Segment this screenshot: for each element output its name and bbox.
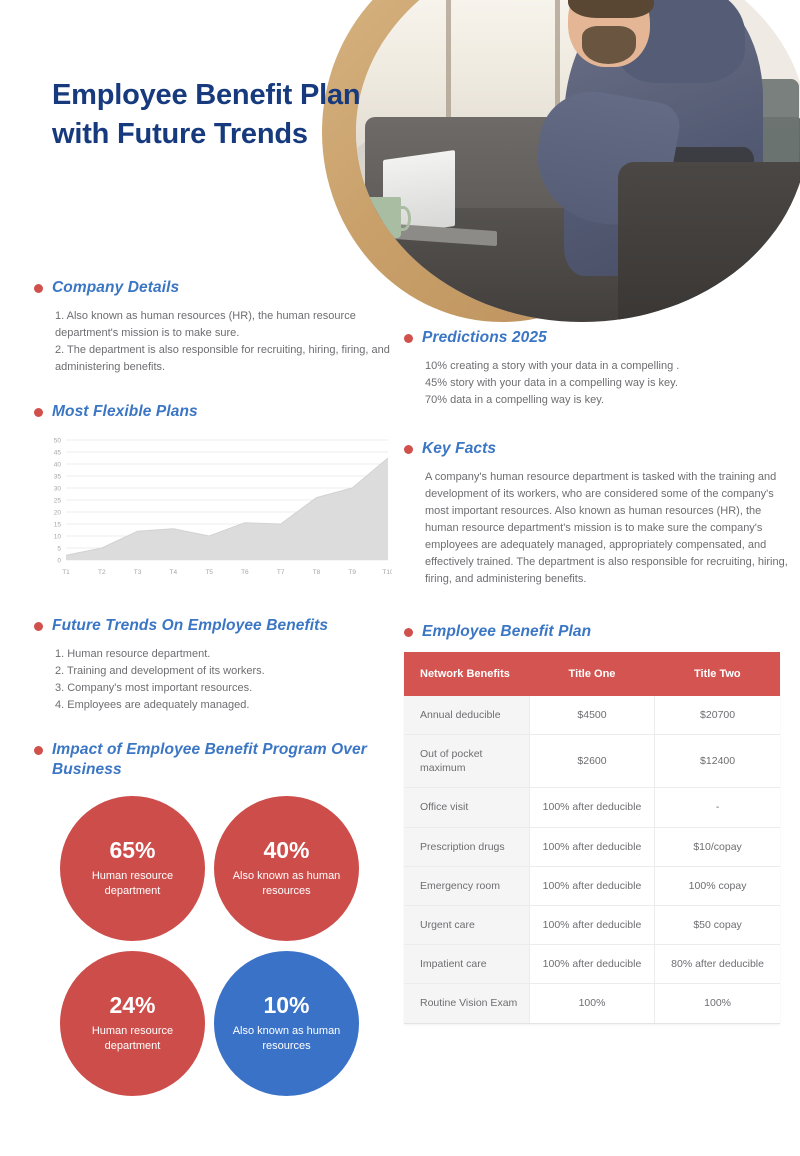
svg-text:50: 50 — [54, 437, 62, 444]
section-benefit-plan: Employee Benefit Plan Network Benefits T… — [404, 622, 790, 1023]
section-most-flexible-plans: Most Flexible Plans 05101520253035404550… — [34, 402, 406, 582]
cell-value: $2600 — [529, 735, 654, 788]
table-row: Emergency room100% after deducible100% c… — [404, 866, 780, 905]
stat-circle: 24% Human resource department — [60, 951, 205, 1096]
table-row: Routine Vision Exam100%100% — [404, 984, 780, 1023]
cell-value: $10/copay — [655, 827, 780, 866]
list-item: 2. The department is also responsible fo… — [55, 342, 406, 376]
column-header-title-two: Title Two — [655, 652, 780, 696]
cell-value: 100% — [529, 984, 654, 1023]
list-item: 4. Employees are adequately managed. — [55, 697, 406, 714]
section-header: Employee Benefit Plan — [404, 622, 790, 642]
stat-percent: 40% — [263, 838, 309, 863]
cell-value: 100% after deducible — [529, 866, 654, 905]
stat-circle-group: 65% Human resource department 40% Also k… — [60, 796, 390, 1096]
bullet-dot-icon — [404, 334, 413, 343]
company-details-body: 1. Also known as human resources (HR), t… — [55, 308, 406, 376]
section-header: Future Trends On Employee Benefits — [34, 616, 406, 636]
list-item: 1. Also known as human resources (HR), t… — [55, 308, 406, 342]
list-item: 3. Company's most important resources. — [55, 680, 406, 697]
svg-text:T3: T3 — [134, 569, 142, 576]
stat-circle: 10% Also known as human resources — [214, 951, 359, 1096]
bullet-dot-icon — [34, 622, 43, 631]
stat-circle: 40% Also known as human resources — [214, 796, 359, 941]
key-facts-body: A company's human resource department is… — [425, 469, 790, 588]
bullet-dot-icon — [404, 628, 413, 637]
cell-value: 100% — [655, 984, 780, 1023]
svg-text:T5: T5 — [205, 569, 213, 576]
section-company-details: Company Details 1. Also known as human r… — [34, 278, 406, 376]
cell-value: 100% after deducible — [529, 945, 654, 984]
svg-text:40: 40 — [54, 461, 62, 468]
section-header: Impact of Employee Benefit Program Over … — [34, 740, 406, 780]
table-row: Prescription drugs100% after deducible$1… — [404, 827, 780, 866]
future-trends-body: 1. Human resource department. 2. Trainin… — [55, 646, 406, 714]
list-item: 1. Human resource department. — [55, 646, 406, 663]
cell-benefit-name: Annual deducible — [404, 696, 529, 735]
page-title: Employee Benefit Plan with Future Trends — [52, 76, 362, 155]
list-item: 10% creating a story with your data in a… — [425, 358, 790, 375]
cell-benefit-name: Impatient care — [404, 945, 529, 984]
hero-photo — [356, 0, 800, 322]
section-title: Key Facts — [422, 439, 496, 459]
section-predictions: Predictions 2025 10% creating a story wi… — [404, 328, 790, 409]
table-row: Urgent care100% after deducible$50 copay — [404, 905, 780, 944]
table-row: Impatient care100% after deducible80% af… — [404, 945, 780, 984]
table-header: Network Benefits Title One Title Two — [404, 652, 780, 696]
section-header: Predictions 2025 — [404, 328, 790, 348]
svg-text:T7: T7 — [277, 569, 285, 576]
svg-text:T2: T2 — [98, 569, 106, 576]
table-header-row: Network Benefits Title One Title Two — [404, 652, 780, 696]
svg-text:45: 45 — [54, 449, 62, 456]
cell-benefit-name: Routine Vision Exam — [404, 984, 529, 1023]
stat-label: Also known as human resources — [214, 1024, 359, 1054]
table-body: Annual deducible$4500$20700Out of pocket… — [404, 696, 780, 1023]
table-row: Office visit100% after deducible- — [404, 788, 780, 827]
chart-area-fill — [66, 458, 388, 560]
person-hair — [568, 0, 654, 18]
table-row: Annual deducible$4500$20700 — [404, 696, 780, 735]
cell-benefit-name: Emergency room — [404, 866, 529, 905]
svg-text:T1: T1 — [62, 569, 70, 576]
bullet-dot-icon — [34, 284, 43, 293]
couch-armrest — [618, 162, 800, 322]
list-item: 70% data in a compelling way is key. — [425, 392, 790, 409]
stat-label: Also known as human resources — [214, 869, 359, 899]
list-item: 2. Training and development of its worke… — [55, 663, 406, 680]
section-title: Predictions 2025 — [422, 328, 547, 348]
stat-label: Human resource department — [60, 1024, 205, 1054]
svg-text:25: 25 — [54, 497, 62, 504]
stat-percent: 65% — [109, 838, 155, 863]
coffee-mug — [365, 197, 401, 239]
list-item: 45% story with your data in a compelling… — [425, 375, 790, 392]
section-header: Most Flexible Plans — [34, 402, 406, 422]
cell-value: $50 copay — [655, 905, 780, 944]
svg-text:5: 5 — [57, 545, 61, 552]
section-title: Company Details — [52, 278, 179, 298]
area-chart: 05101520253035404550 T1T2T3T4T5T6T7T8T9T… — [40, 432, 392, 582]
cell-benefit-name: Out of pocket maximum — [404, 735, 529, 788]
cell-value: $4500 — [529, 696, 654, 735]
cell-benefit-name: Urgent care — [404, 905, 529, 944]
predictions-body: 10% creating a story with your data in a… — [425, 358, 790, 409]
column-header-title-one: Title One — [529, 652, 654, 696]
table-row: Out of pocket maximum$2600$12400 — [404, 735, 780, 788]
area-chart-svg: 05101520253035404550 T1T2T3T4T5T6T7T8T9T… — [40, 432, 392, 582]
stat-label: Human resource department — [60, 869, 205, 899]
cell-value: $12400 — [655, 735, 780, 788]
cell-value: - — [655, 788, 780, 827]
svg-text:T6: T6 — [241, 569, 249, 576]
chart-x-axis-labels: T1T2T3T4T5T6T7T8T9T10 — [62, 569, 392, 576]
person-beard — [582, 26, 636, 64]
stat-percent: 24% — [109, 993, 155, 1018]
cell-value: 100% after deducible — [529, 827, 654, 866]
section-header: Key Facts — [404, 439, 790, 459]
stat-circle: 65% Human resource department — [60, 796, 205, 941]
cell-value: 100% copay — [655, 866, 780, 905]
left-column: Company Details 1. Also known as human r… — [34, 278, 406, 1100]
cell-value: 80% after deducible — [655, 945, 780, 984]
chart-y-axis-labels: 05101520253035404550 — [54, 437, 62, 564]
cell-benefit-name: Office visit — [404, 788, 529, 827]
stat-percent: 10% — [263, 993, 309, 1018]
section-header: Company Details — [34, 278, 406, 298]
svg-text:35: 35 — [54, 473, 62, 480]
svg-text:30: 30 — [54, 485, 62, 492]
svg-text:0: 0 — [57, 557, 61, 564]
cell-value: 100% after deducible — [529, 905, 654, 944]
section-title: Most Flexible Plans — [52, 402, 198, 422]
svg-text:15: 15 — [54, 521, 62, 528]
section-impact: Impact of Employee Benefit Program Over … — [34, 740, 406, 1096]
section-title: Employee Benefit Plan — [422, 622, 591, 642]
svg-text:T10: T10 — [382, 569, 392, 576]
cell-value: $20700 — [655, 696, 780, 735]
svg-text:T8: T8 — [313, 569, 321, 576]
bullet-dot-icon — [34, 408, 43, 417]
cell-benefit-name: Prescription drugs — [404, 827, 529, 866]
svg-text:T9: T9 — [348, 569, 356, 576]
right-column: Predictions 2025 10% creating a story wi… — [404, 328, 790, 1028]
svg-text:20: 20 — [54, 509, 62, 516]
section-title: Future Trends On Employee Benefits — [52, 616, 328, 636]
bullet-dot-icon — [34, 746, 43, 755]
section-future-trends: Future Trends On Employee Benefits 1. Hu… — [34, 616, 406, 714]
column-header-network-benefits: Network Benefits — [404, 652, 529, 696]
bullet-dot-icon — [404, 445, 413, 454]
section-key-facts: Key Facts A company's human resource dep… — [404, 439, 790, 588]
infographic-page: Employee Benefit Plan with Future Trends… — [0, 0, 800, 1156]
svg-text:T4: T4 — [170, 569, 178, 576]
photo-scene — [356, 0, 800, 322]
cell-value: 100% after deducible — [529, 788, 654, 827]
section-title: Impact of Employee Benefit Program Over … — [52, 740, 406, 780]
benefit-plan-table: Network Benefits Title One Title Two Ann… — [404, 652, 780, 1024]
svg-text:10: 10 — [54, 533, 62, 540]
